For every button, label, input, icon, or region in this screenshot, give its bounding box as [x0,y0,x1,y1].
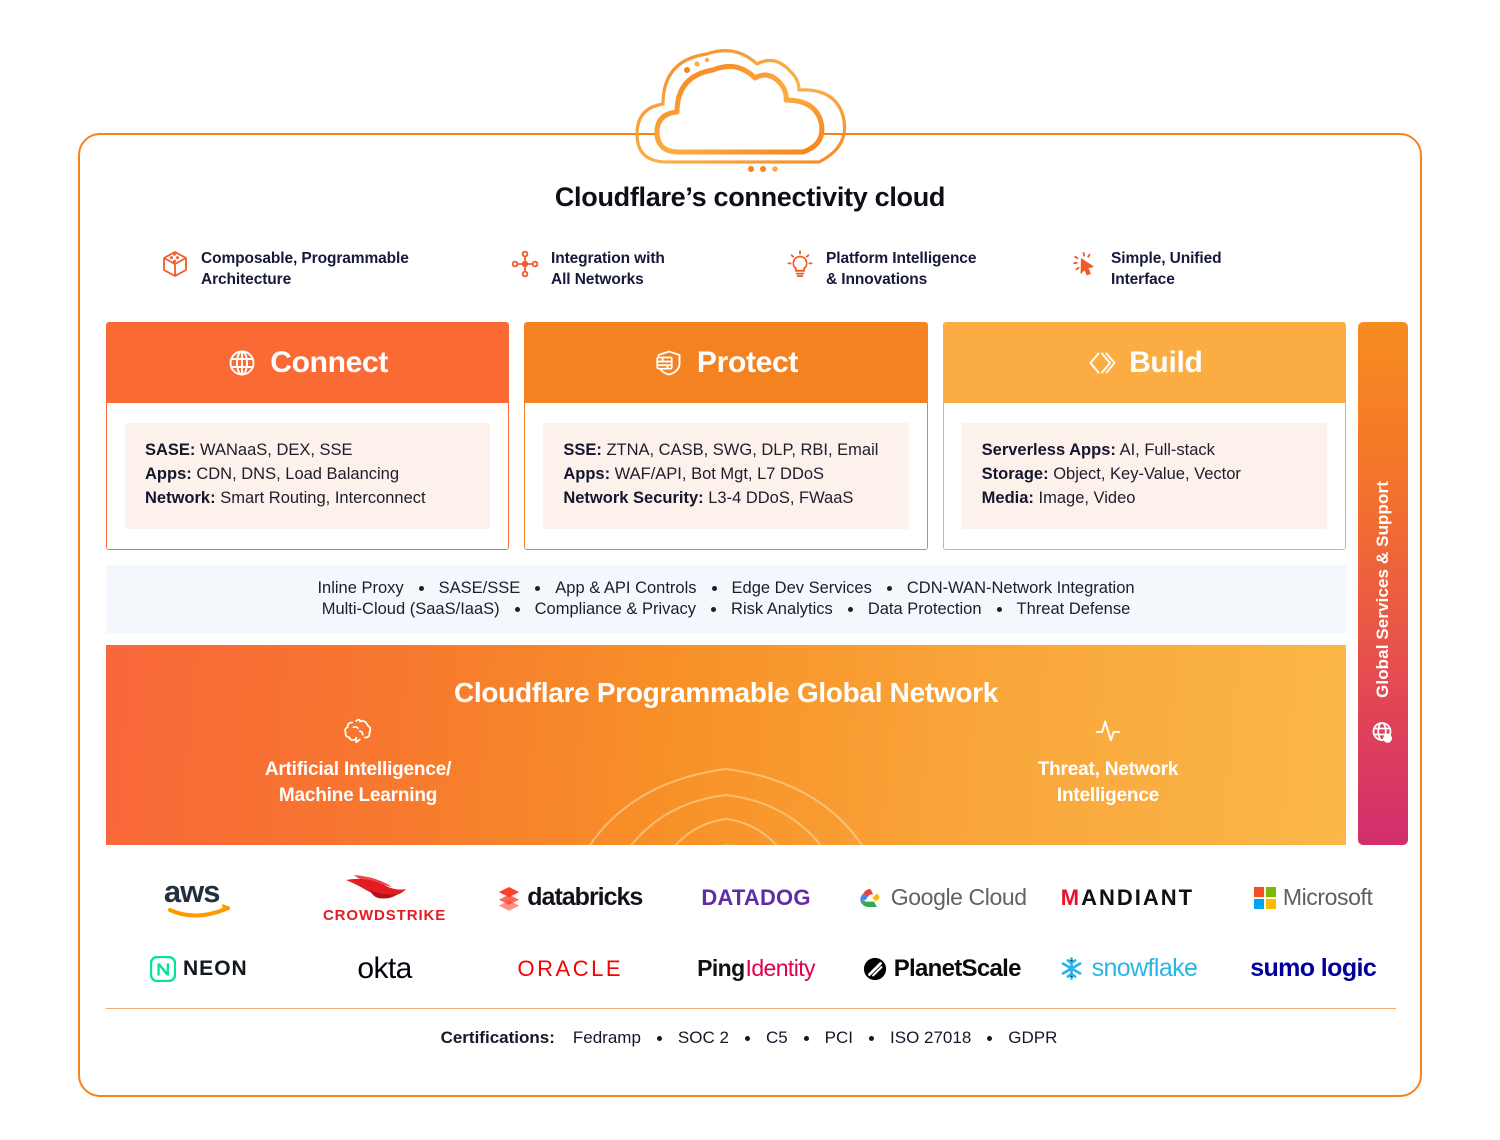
pillar-title: Connect [270,346,388,380]
cloud-outline-icon [623,34,893,174]
pillar-row-item: SSE: ZTNA, CASB, SWG, DLP, RBI, Email [563,439,888,463]
capabilities-row-1: Inline Proxy SASE/SSE App & API Controls… [315,579,1136,598]
logo-row-1: aws CROWDSTRIKE [106,862,1406,933]
databricks-stack-icon [498,885,520,911]
pillar-row-item: Apps: CDN, DNS, Load Balancing [145,463,470,487]
certification-item: ISO 27018 [888,1028,973,1048]
pillar-row-label: Network: [145,489,216,507]
logo-text: PlanetScale [894,955,1021,983]
pillar-row-label: Apps: [145,465,192,483]
google-cloud-icon [857,886,884,910]
separator-dot [869,1036,874,1041]
logo-text: DATADOG [701,885,810,911]
logo-snowflake[interactable]: snowflake [1035,933,1221,1004]
microsoft-squares-icon [1254,887,1276,909]
capability-item: Edge Dev Services [730,579,874,598]
capabilities-row-2: Multi-Cloud (SaaS/IaaS) Compliance & Pri… [320,600,1133,619]
certification-item: GDPR [1006,1028,1059,1048]
pillar-title: Protect [697,346,798,380]
network-nodes-icon [510,249,540,279]
feature-row: Composable, Programmable Architecture In… [160,248,1340,302]
global-network-band: Cloudflare Programmable Global Network A… [106,645,1346,845]
logo-google-cloud[interactable]: Google Cloud [849,862,1035,933]
globe-pin-icon [1370,720,1396,746]
capabilities-band: Inline Proxy SASE/SSE App & API Controls… [106,565,1346,633]
logo-text: Google Cloud [891,884,1027,911]
pillar-row-label: SASE: [145,441,195,459]
pillar-body: SSE: ZTNA, CASB, SWG, DLP, RBI, Email Ap… [525,403,926,549]
logo-text: ANDIANT [1081,885,1194,911]
logo-text: CROWDSTRIKE [323,907,446,924]
logo-text: sumo logic [1250,954,1376,983]
logo-text-b: Identity [746,955,815,982]
pillar-row-value: Object, Key-Value, Vector [1053,465,1241,483]
certifications-divider [106,1008,1396,1009]
capability-item: CDN-WAN-Network Integration [905,579,1137,598]
pillar-row-item: SASE: WANaaS, DEX, SSE [145,439,470,463]
crowdstrike-falcon-icon [340,872,430,900]
rail-label: Global Services & Support [1373,481,1393,698]
pillar-row-item: Network: Smart Routing, Interconnect [145,487,470,511]
separator-dot [535,586,540,591]
infographic-root: Cloudflare’s connectivity cloud Composab… [0,0,1500,1140]
separator-dot [987,1036,992,1041]
pulse-icon [948,713,1268,747]
pillar-row-label: Network Security: [563,489,703,507]
pillar-row-label: Media: [982,489,1034,507]
pillar-row-label: Serverless Apps: [982,441,1116,459]
shield-firewall-icon [654,348,684,378]
partner-logos: aws CROWDSTRIKE [106,862,1406,1004]
certification-item: PCI [823,1028,855,1048]
pillar-row: Connect SASE: WANaaS, DEX, SSE Apps: CDN… [106,322,1346,550]
pillar-protect[interactable]: Protect SSE: ZTNA, CASB, SWG, DLP, RBI, … [524,322,927,550]
lightbulb-icon [785,249,815,279]
feature-label: Platform Intelligence & Innovations [826,248,976,290]
separator-dot [997,607,1002,612]
pillar-row-value: CDN, DNS, Load Balancing [196,465,399,483]
pillar-row-value: Image, Video [1039,489,1136,507]
certification-item: Fedramp [571,1028,643,1048]
network-left-block: Artificial Intelligence/ Machine Learnin… [198,713,518,808]
network-left-label: Artificial Intelligence/ Machine Learnin… [198,757,518,808]
pillar-row-value: WANaaS, DEX, SSE [200,441,353,459]
feature-item-platform-intelligence: Platform Intelligence & Innovations [785,248,1070,302]
feature-label: Integration with All Networks [551,248,665,290]
pillar-row-value: L3-4 DDoS, FWaaS [708,489,853,507]
feature-item-simple-interface: Simple, Unified Interface [1070,248,1330,302]
pillar-row-value: ZTNA, CASB, SWG, DLP, RBI, Email [606,441,878,459]
certifications-label: Certifications: [441,1028,555,1048]
logo-ping-identity[interactable]: Ping Identity [663,933,849,1004]
separator-dot [419,586,424,591]
page-title: Cloudflare’s connectivity cloud [0,182,1500,213]
planetscale-icon [863,957,887,981]
capability-item: SASE/SSE [437,579,523,598]
separator-dot [711,607,716,612]
pillar-build[interactable]: Build Serverless Apps: AI, Full-stack St… [943,322,1346,550]
logo-neon[interactable]: NEON [106,933,292,1004]
logo-aws[interactable]: aws [106,862,292,933]
capability-item: Data Protection [866,600,984,619]
network-right-block: Threat, Network Intelligence [948,713,1268,808]
logo-row-2: NEON okta ORACLE Ping Identity [106,933,1406,1004]
pillar-row-label: Apps: [563,465,610,483]
pillar-connect[interactable]: Connect SASE: WANaaS, DEX, SSE Apps: CDN… [106,322,509,550]
pillar-row-value: WAF/API, Bot Mgt, L7 DDoS [615,465,824,483]
capability-item: Inline Proxy [315,579,405,598]
snowflake-icon [1058,955,1085,982]
capability-item: Threat Defense [1015,600,1133,619]
logo-text-accent: M [1061,885,1081,911]
capability-item: Multi-Cloud (SaaS/IaaS) [320,600,502,619]
pillar-row-item: Apps: WAF/API, Bot Mgt, L7 DDoS [563,463,888,487]
logo-text: Microsoft [1283,884,1373,911]
logo-oracle[interactable]: ORACLE [477,933,663,1004]
feature-label: Composable, Programmable Architecture [201,248,409,290]
pillar-title: Build [1129,346,1203,380]
separator-dot [887,586,892,591]
global-services-rail[interactable]: Global Services & Support [1358,322,1408,845]
pillar-header: Connect [107,323,508,403]
logo-text: okta [357,952,411,986]
logo-text: NEON [183,957,248,981]
certification-item: C5 [764,1028,790,1048]
capability-item: Risk Analytics [729,600,835,619]
certifications-row: Certifications: Fedramp SOC 2 C5 PCI ISO… [0,1028,1500,1048]
logo-mandiant[interactable]: M ANDIANT [1035,862,1221,933]
certification-item: SOC 2 [676,1028,731,1048]
network-right-label: Threat, Network Intelligence [948,757,1268,808]
pillar-row-label: Storage: [982,465,1049,483]
logo-text: ORACLE [518,956,623,982]
globe-network-art [511,699,941,845]
brain-icon [198,713,518,747]
pillar-row-value: Smart Routing, Interconnect [220,489,425,507]
network-title: Cloudflare Programmable Global Network [106,677,1346,709]
logo-text-a: Ping [697,955,744,982]
feature-item-composable: Composable, Programmable Architecture [160,248,510,302]
cube-box-icon [160,249,190,279]
pillar-row-value: AI, Full-stack [1120,441,1215,459]
pillar-header: Build [944,323,1345,403]
code-brackets-icon [1086,348,1116,378]
pillar-body: Serverless Apps: AI, Full-stack Storage:… [944,403,1345,549]
capability-item: App & API Controls [553,579,698,598]
separator-dot [515,607,520,612]
logo-crowdstrike[interactable]: CROWDSTRIKE [292,862,478,933]
separator-dot [657,1036,662,1041]
logo-okta[interactable]: okta [292,933,478,1004]
pillar-row-item: Storage: Object, Key-Value, Vector [982,463,1307,487]
globe-icon [227,348,257,378]
logo-databricks[interactable]: databricks [477,862,663,933]
logo-sumo-logic[interactable]: sumo logic [1220,933,1406,1004]
cursor-click-icon [1070,249,1100,279]
separator-dot [712,586,717,591]
pillar-row-label: SSE: [563,441,602,459]
pillar-body: SASE: WANaaS, DEX, SSE Apps: CDN, DNS, L… [107,403,508,549]
logo-datadog[interactable]: DATADOG [663,862,849,933]
neon-icon [150,956,176,982]
feature-label: Simple, Unified Interface [1111,248,1221,290]
pillar-row-item: Serverless Apps: AI, Full-stack [982,439,1307,463]
pillar-header: Protect [525,323,926,403]
separator-dot [848,607,853,612]
logo-planetscale[interactable]: PlanetScale [849,933,1035,1004]
separator-dot [745,1036,750,1041]
pillar-row-item: Network Security: L3-4 DDoS, FWaaS [563,487,888,511]
logo-text: snowflake [1092,954,1198,983]
logo-text: databricks [527,883,642,912]
separator-dot [804,1036,809,1041]
capability-item: Compliance & Privacy [533,600,698,619]
pillar-row-item: Media: Image, Video [982,487,1307,511]
feature-item-integration: Integration with All Networks [510,248,785,302]
logo-microsoft[interactable]: Microsoft [1220,862,1406,933]
